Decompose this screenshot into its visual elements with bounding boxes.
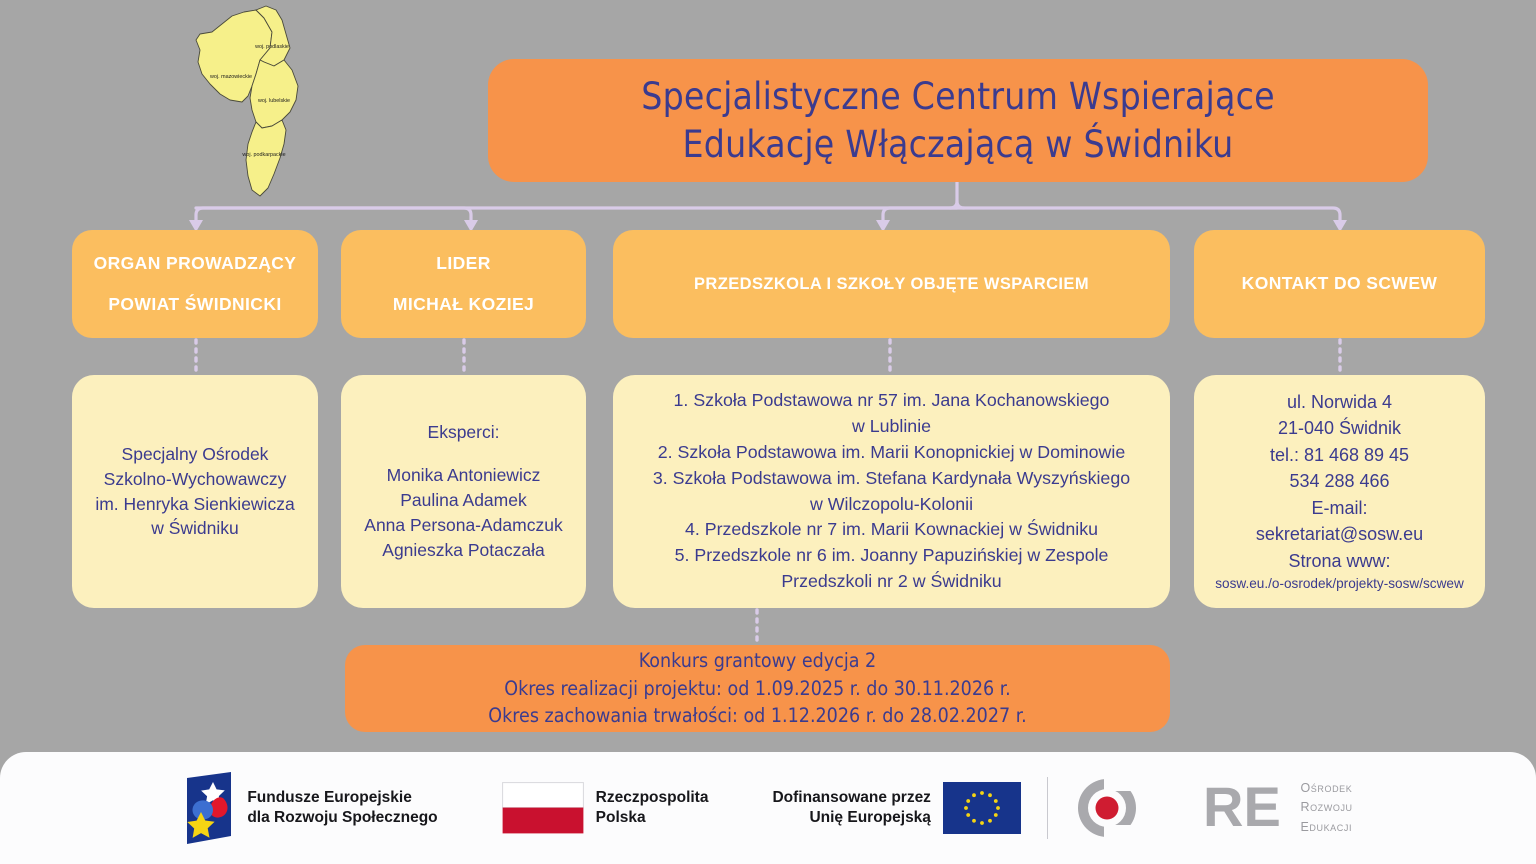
map-label-mazowieckie: woj. mazowieckie [209, 74, 252, 80]
footer-divider [1047, 777, 1049, 839]
school-line: 2. Szkoła Podstawowa im. Marii Konopnick… [625, 440, 1158, 466]
page-title: Specjalistyczne Centrum Wspierające Eduk… [488, 59, 1428, 182]
project-period-note: Konkurs grantowy edycja 2 Okres realizac… [345, 645, 1170, 732]
map-label-podlaskie: woj. podlaskie [254, 44, 289, 50]
section-header-organ[interactable]: ORGAN PROWADZĄCY POWIAT ŚWIDNICKI [72, 230, 318, 338]
footer-logo-band: Fundusze Europejskie dla Rozwoju Społecz… [0, 752, 1536, 864]
eu-flag-icon [943, 782, 1021, 834]
school-line: 3. Szkoła Podstawowa im. Stefana Kardyna… [625, 466, 1158, 492]
logo-label-fundusze: Fundusze Europejskie dla Rozwoju Społecz… [247, 788, 437, 828]
contact-address-city: 21-040 Świdnik [1206, 415, 1473, 441]
content-line: Szkolno-Wychowawczy [84, 467, 306, 492]
content-card-szkoly: 1. Szkoła Podstawowa nr 57 im. Jana Koch… [613, 375, 1170, 608]
content-line-expert: Anna Persona-Adamczuk [353, 513, 574, 538]
map-label-lubelskie: woj. lubelskie [257, 98, 290, 104]
eu-funds-flag-icon [183, 772, 235, 844]
section-header-line: MICHAŁ KOZIEJ [393, 295, 534, 314]
section-header-kontakt[interactable]: KONTAKT DO SCWEW [1194, 230, 1485, 338]
contact-website-label: Strona www: [1206, 548, 1473, 574]
school-line: Przedszkoli nr 2 w Świdniku [625, 569, 1158, 595]
region-podkarpackie [246, 120, 286, 196]
contact-address-street: ul. Norwida 4 [1206, 389, 1473, 415]
section-header-lider[interactable]: LIDER MICHAŁ KOZIEJ [341, 230, 586, 338]
section-header-line: POWIAT ŚWIDNICKI [108, 295, 281, 314]
logo-label-ue: Dofinansowane przez Unię Europejską [772, 788, 930, 828]
svg-text:RE: RE [1203, 778, 1281, 838]
contact-website-url[interactable]: sosw.eu./o-osrodek/projekty-sosw/scwew [1206, 574, 1473, 594]
content-line-experts-label: Eksperci: [353, 420, 574, 445]
logo-label-polska: Rzeczpospolita Polska [596, 788, 709, 828]
content-card-lider: Eksperci: Monika Antoniewicz Paulina Ada… [341, 375, 586, 608]
region-lubelskie [250, 60, 298, 128]
contact-email-label: E-mail: [1206, 495, 1473, 521]
logo-dofinansowane-ue: Dofinansowane przez Unię Europejską [772, 782, 1020, 834]
section-header-line: ORGAN PROWADZĄCY [94, 254, 297, 273]
spacer [353, 445, 574, 463]
section-header-line: LIDER [436, 254, 491, 273]
logo-rzeczpospolita-polska: Rzeczpospolita Polska [502, 782, 709, 834]
section-header-szkoly[interactable]: PRZEDSZKOLA I SZKOŁY OBJĘTE WSPARCIEM [613, 230, 1170, 338]
map-label-podkarpackie: woj. podkarpackie [241, 152, 285, 158]
poland-voivodeships-map: woj. podlaskie woj. mazowieckie woj. lub… [186, 4, 308, 204]
ore-mark-icon [1074, 775, 1192, 841]
content-line: w Świdniku [84, 516, 306, 541]
content-line-expert: Agnieszka Potaczała [353, 538, 574, 563]
contact-phone-landline: tel.: 81 468 89 45 [1206, 442, 1473, 468]
poland-flag-icon [502, 782, 584, 834]
school-line: w Lublinie [625, 414, 1158, 440]
school-line: 4. Przedszkole nr 7 im. Marii Kownackiej… [625, 517, 1158, 543]
logo-fundusze-europejskie: Fundusze Europejskie dla Rozwoju Społecz… [183, 772, 437, 844]
ore-subtitle: Ośrodek Rozwoju Edukacji [1300, 779, 1352, 837]
school-line: 5. Przedszkole nr 6 im. Joanny Papuzińsk… [625, 543, 1158, 569]
school-line: 1. Szkoła Podstawowa nr 57 im. Jana Koch… [625, 388, 1158, 414]
ore-wordmark-icon: RE [1203, 778, 1289, 838]
content-line-expert: Monika Antoniewicz [353, 463, 574, 488]
content-card-organ: Specjalny Ośrodek Szkolno-Wychowawczy im… [72, 375, 318, 608]
section-header-line: PRZEDSZKOLA I SZKOŁY OBJĘTE WSPARCIEM [694, 275, 1089, 293]
logo-ore: RE Ośrodek Rozwoju Edukacji [1074, 775, 1352, 841]
content-card-kontakt: ul. Norwida 4 21-040 Świdnik tel.: 81 46… [1194, 375, 1485, 608]
school-line: w Wilczopolu-Kolonii [625, 492, 1158, 518]
contact-phone-mobile: 534 288 466 [1206, 468, 1473, 494]
infographic-stage: woj. podlaskie woj. mazowieckie woj. lub… [0, 0, 1536, 864]
section-header-line: KONTAKT DO SCWEW [1242, 274, 1438, 293]
page-title-text: Specjalistyczne Centrum Wspierające Eduk… [641, 73, 1275, 168]
content-line: Specjalny Ośrodek [84, 442, 306, 467]
content-line-expert: Paulina Adamek [353, 488, 574, 513]
contact-email-value[interactable]: sekretariat@sosw.eu [1206, 521, 1473, 547]
content-line: im. Henryka Sienkiewicza [84, 492, 306, 517]
project-period-text: Konkurs grantowy edycja 2 Okres realizac… [488, 647, 1026, 730]
